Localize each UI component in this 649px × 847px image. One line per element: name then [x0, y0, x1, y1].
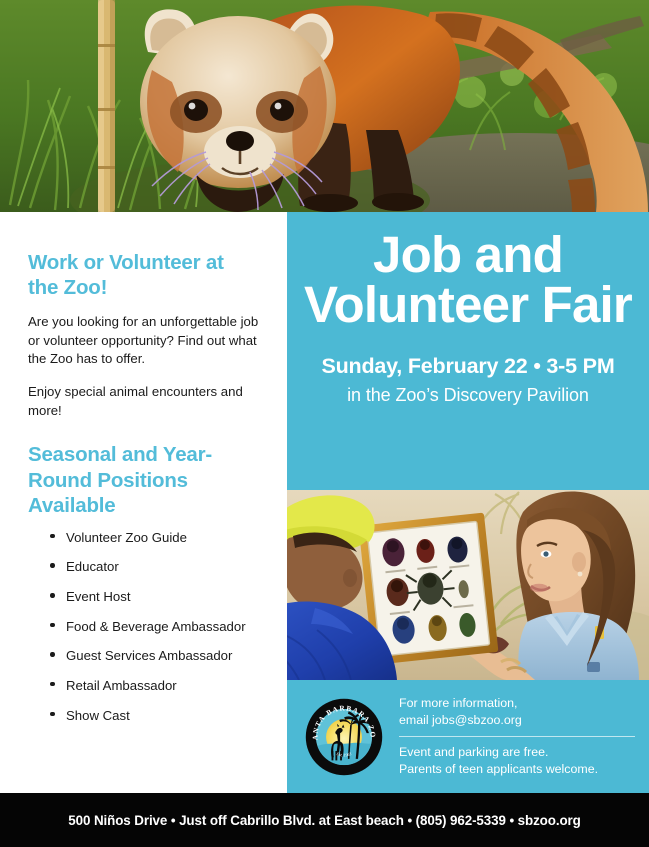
contact-info-line-1: For more information,	[399, 695, 635, 712]
list-item: Volunteer Zoo Guide	[50, 529, 259, 559]
left-paragraph-1: Are you looking for an unforgettable job…	[28, 313, 259, 369]
event-title-panel: Job and Volunteer Fair Sunday, February …	[287, 212, 649, 490]
contact-note-line-2: Parents of teen applicants welcome.	[399, 761, 635, 778]
left-content-column: Work or Volunteer at the Zoo! Are you lo…	[0, 212, 287, 793]
left-heading-positions: Seasonal and Year-Round Positions Availa…	[28, 442, 259, 518]
contact-divider	[399, 736, 635, 737]
left-paragraph-2: Enjoy special animal encounters and more…	[28, 383, 259, 420]
left-heading-work-or-volunteer: Work or Volunteer at the Zoo!	[28, 250, 259, 301]
list-item: Retail Ambassador	[50, 677, 259, 707]
list-item: Show Cast	[50, 707, 259, 737]
positions-list: Volunteer Zoo Guide Educator Event Host …	[28, 529, 259, 737]
event-date-time: Sunday, February 22 • 3-5 PM	[301, 354, 635, 379]
event-title: Job and Volunteer Fair	[301, 230, 635, 330]
footer-bar: 500 Niños Drive • Just off Cabrillo Blvd…	[0, 793, 649, 847]
list-item: Event Host	[50, 588, 259, 618]
hero-photo-red-panda	[0, 0, 649, 212]
contact-info-line-2: email jobs@sbzoo.org	[399, 712, 635, 729]
santa-barbara-zoo-logo-icon: SANTA BARBARA ZOO Est. 1963	[305, 698, 383, 776]
list-item: Guest Services Ambassador	[50, 647, 259, 677]
footer-address-text: 500 Niños Drive • Just off Cabrillo Blvd…	[68, 813, 580, 828]
list-item: Educator	[50, 558, 259, 588]
contact-note-line-1: Event and parking are free.	[399, 744, 635, 761]
event-location: in the Zoo’s Discovery Pavilion	[301, 385, 635, 406]
secondary-photo-educator-and-child	[287, 490, 649, 680]
contact-text-block: For more information, email jobs@sbzoo.o…	[399, 695, 635, 777]
list-item: Food & Beverage Ambassador	[50, 618, 259, 648]
contact-panel: SANTA BARBARA ZOO Est. 1963 For more inf…	[287, 680, 649, 793]
flyer-page: Work or Volunteer at the Zoo! Are you lo…	[0, 0, 649, 847]
